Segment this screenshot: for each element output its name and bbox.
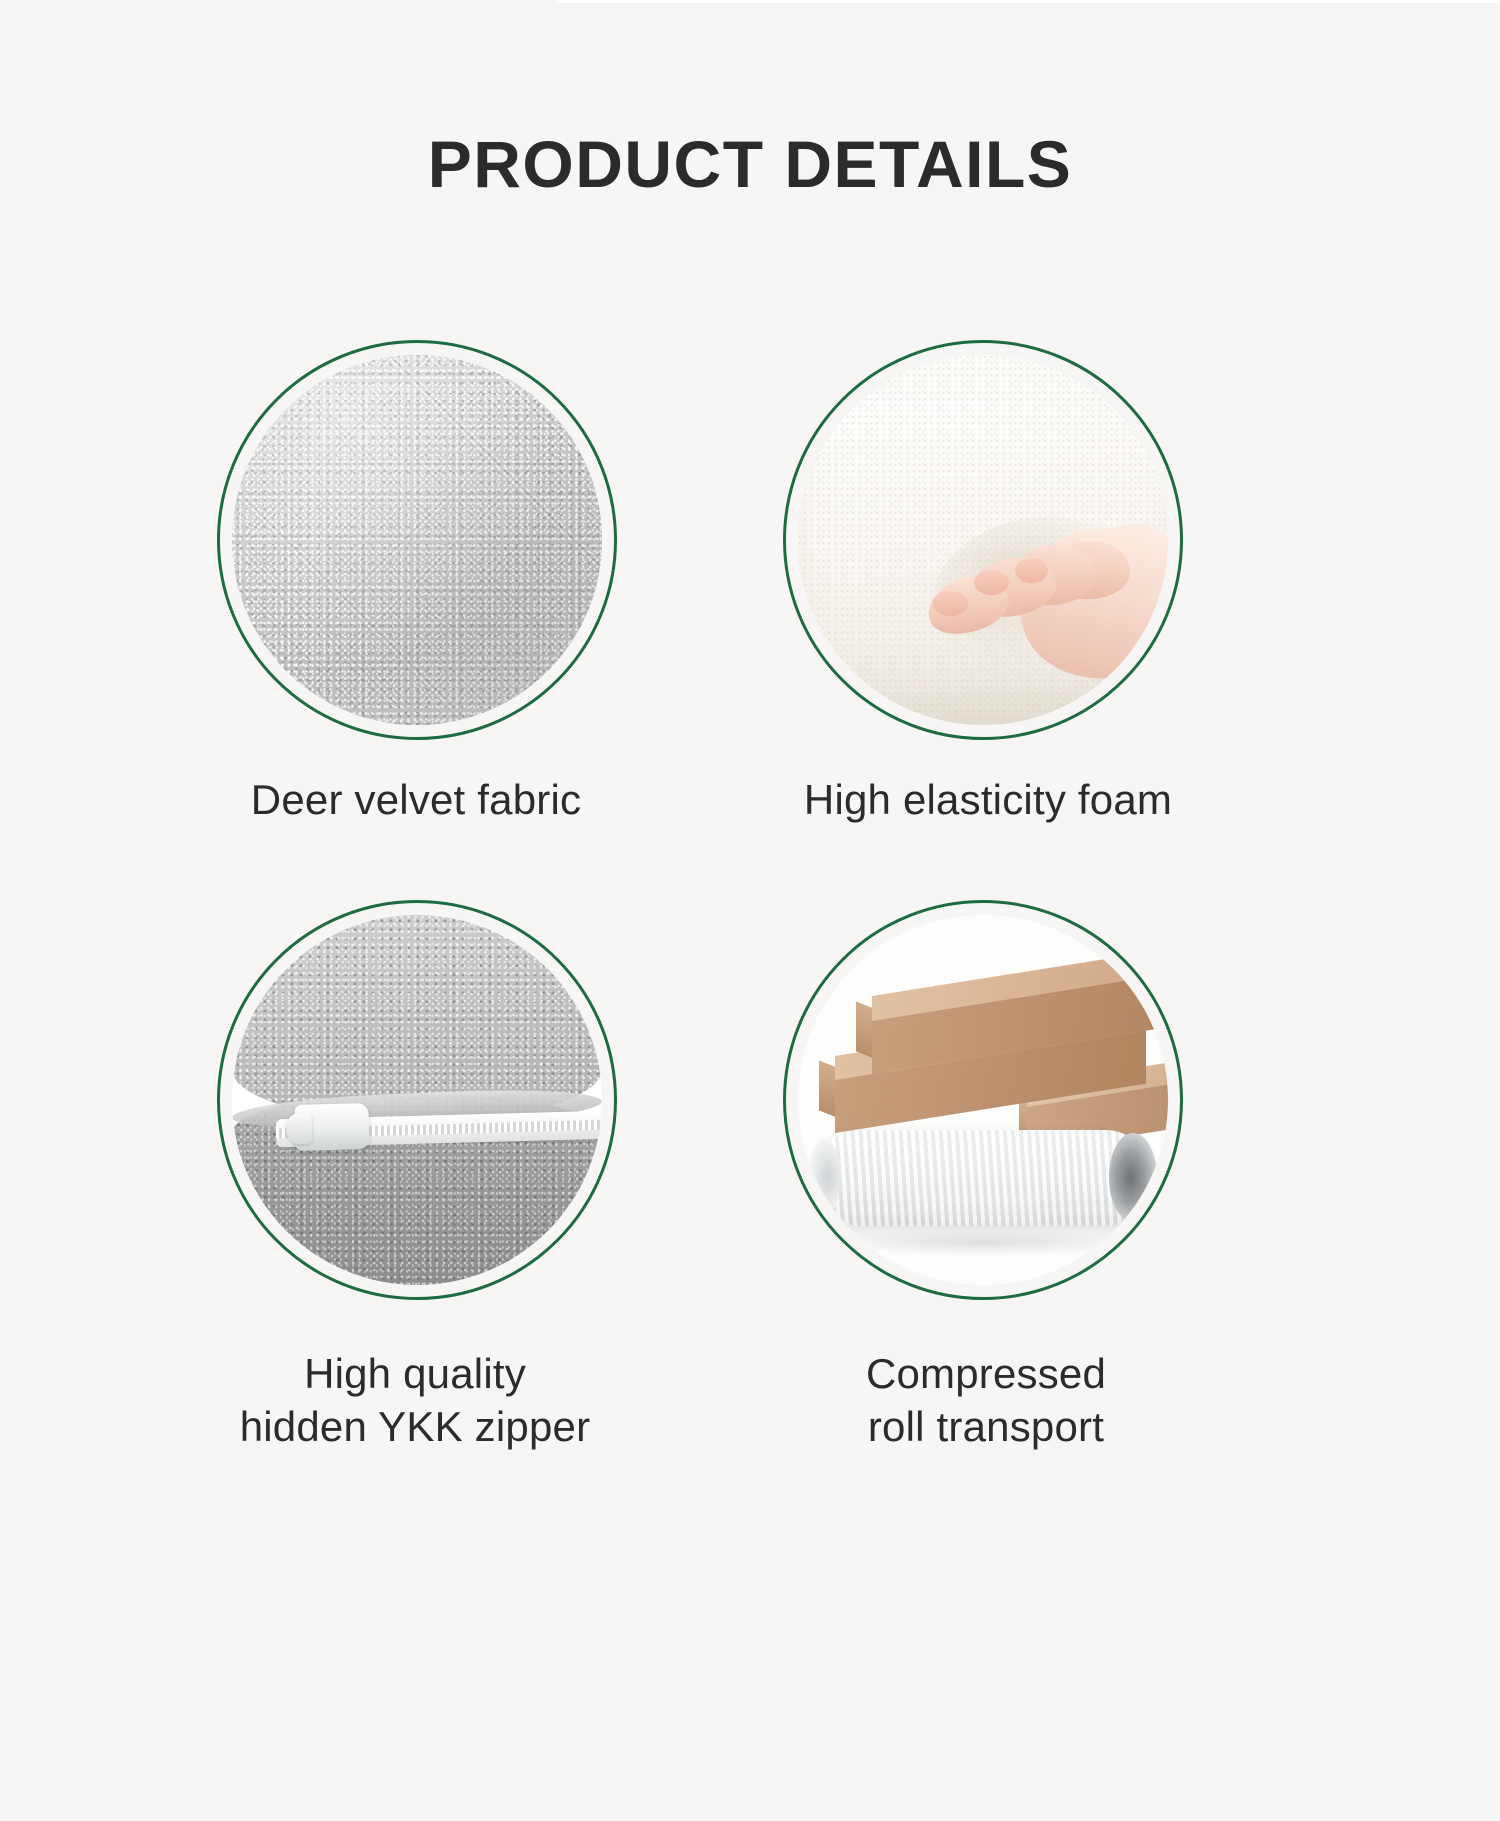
roll-left-cinch [809,1139,840,1216]
page-title-wrapper: PRODUCT DETAILS [0,131,1500,197]
feature-caption-hidden-ykk-zipper: High quality hidden YKK zipper [240,1348,591,1453]
feature-card-high-elasticity-foam[interactable]: High elasticity foam [700,340,1260,900]
feature-card-hidden-ykk-zipper[interactable]: High quality hidden YKK zipper [140,900,700,1540]
feature-image-packaging-roll-and-boxes [798,915,1168,1285]
feature-image-zipper-detail [232,915,602,1285]
zipper-pull-tab-icon [285,1113,312,1145]
page-title: PRODUCT DETAILS [0,131,1500,197]
fingernail-1 [933,591,969,616]
roll-plastic-wrap [813,1130,1153,1226]
foam-scene [798,355,1168,725]
feature-grid: Deer velvet fabric [140,340,1260,1540]
cardboard-box-1 [872,996,1168,1074]
feature-caption-compressed-roll-transport: Compressed roll transport [866,1348,1106,1453]
feature-circle-compressed-roll-transport [783,900,1183,1300]
top-edge-band [556,0,1500,3]
feature-caption-high-elasticity-foam: High elasticity foam [804,774,1172,827]
hand-icon [916,496,1168,703]
roll-right-cinch [1109,1133,1157,1221]
feature-circle-hidden-ykk-zipper [217,900,617,1300]
feature-image-hand-pressing-foam [798,355,1168,725]
feature-circle-deer-velvet-fabric [217,340,617,740]
feature-caption-deer-velvet-fabric: Deer velvet fabric [251,774,581,827]
feature-card-compressed-roll-transport[interactable]: Compressed roll transport [700,900,1260,1540]
compressed-roll-icon [813,1130,1153,1226]
feature-card-deer-velvet-fabric[interactable]: Deer velvet fabric [140,340,700,900]
zipper-scene [232,915,602,1285]
feature-circle-high-elasticity-foam [783,340,1183,740]
feature-image-fabric-texture-swatch [232,355,602,725]
packaging-scene [798,915,1168,1285]
fingernail-3 [1015,558,1048,583]
packaging-ground-shadow [820,1230,1146,1256]
velvet-texture-icon [232,355,602,725]
feature-row-2: High quality hidden YKK zipper [140,900,1260,1540]
feature-row-1: Deer velvet fabric [140,340,1260,900]
